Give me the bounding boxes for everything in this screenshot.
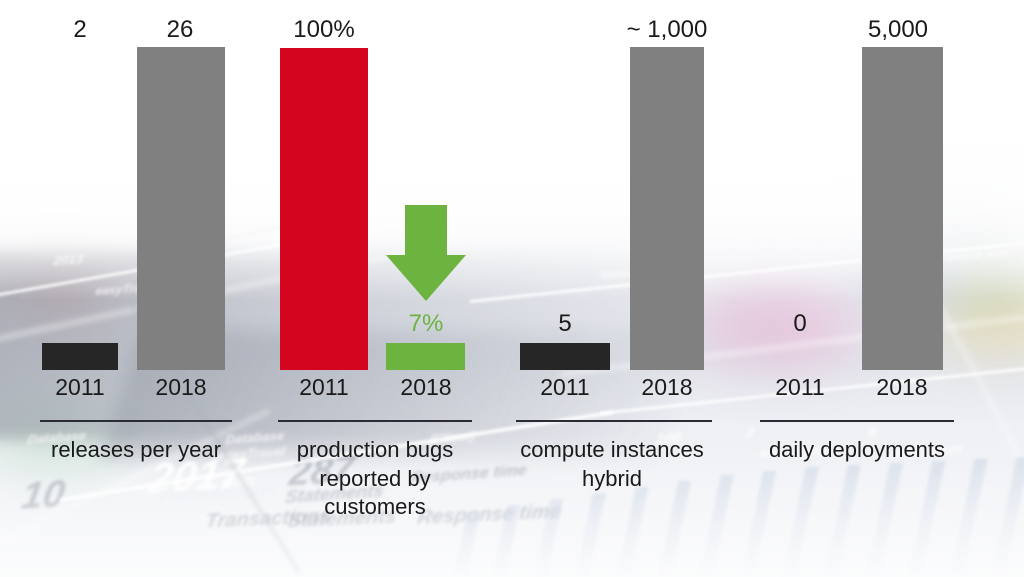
bar-g2-2011 — [280, 48, 368, 370]
down-arrow-icon — [386, 205, 466, 301]
caption-g3: compute instances hybrid — [512, 436, 712, 493]
bar-g3-2011 — [520, 343, 610, 370]
caption-g4: daily deployments — [757, 436, 957, 465]
bar-value-g4-2018: 5,000 — [848, 18, 948, 42]
separator-g4 — [760, 420, 954, 422]
separator-g2 — [278, 420, 472, 422]
separator-g1 — [40, 420, 232, 422]
year-label-g2-2018: 2018 — [376, 376, 476, 399]
bar-value-g2-2011: 100% — [274, 18, 374, 42]
year-label-g3-2011: 2011 — [515, 376, 615, 399]
year-label-g4-2011: 2011 — [750, 376, 850, 399]
year-label-g3-2018: 2018 — [617, 376, 717, 399]
year-label-g2-2011: 2011 — [274, 376, 374, 399]
bar-value-g2-2018: 7% — [376, 312, 476, 336]
slide-canvas: 2013 easyTravel Database 10 2017 min Tra… — [0, 0, 1024, 577]
bar-value-g4-2011: 0 — [750, 312, 850, 336]
bar-value-g1-2011: 2 — [30, 18, 130, 42]
bar-value-g3-2018: ~ 1,000 — [617, 18, 717, 42]
bar-value-g3-2011: 5 — [515, 312, 615, 336]
caption-g2: production bugs reported by customers — [272, 436, 478, 522]
bar-chart: 2 26 2011 2018 releases per year 100% 7%… — [0, 0, 1024, 577]
bar-g3-2018 — [630, 47, 704, 370]
bar-g4-2018 — [862, 47, 943, 370]
caption-g1: releases per year — [36, 436, 236, 465]
bar-g1-2011 — [42, 343, 118, 370]
year-label-g1-2011: 2011 — [30, 376, 130, 399]
separator-g3 — [516, 420, 712, 422]
year-label-g1-2018: 2018 — [131, 376, 231, 399]
bar-g1-2018 — [137, 47, 225, 370]
year-label-g4-2018: 2018 — [852, 376, 952, 399]
bar-g2-2018 — [386, 343, 465, 370]
bar-value-g1-2018: 26 — [130, 18, 230, 42]
